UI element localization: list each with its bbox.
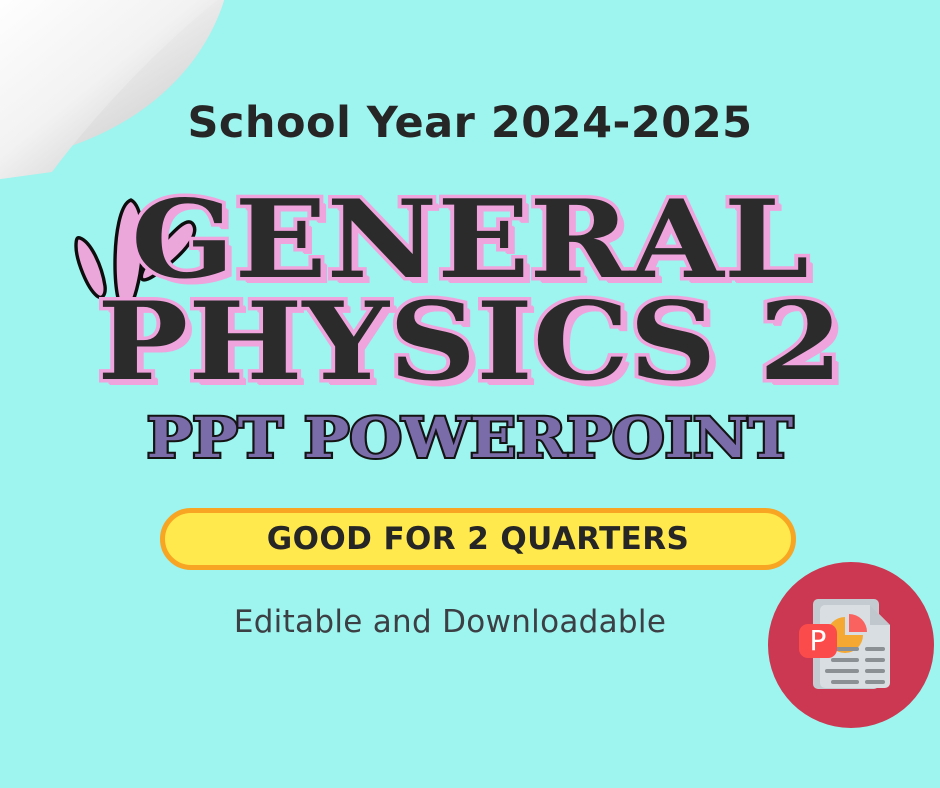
- quarters-badge: GOOD FOR 2 QUARTERS: [160, 508, 796, 570]
- main-title-line-1: GENERAL: [0, 186, 940, 294]
- main-title-line-2: PHYSICS 2: [0, 288, 940, 396]
- powerpoint-badge-letter: P: [810, 624, 827, 657]
- powerpoint-file-icon: P: [768, 562, 934, 728]
- quarters-badge-label: GOOD FOR 2 QUARTERS: [267, 521, 689, 557]
- editable-downloadable-text: Editable and Downloadable: [0, 604, 900, 640]
- poster-canvas: School Year 2024-2025 GENERAL PHYSICS 2 …: [0, 0, 940, 788]
- school-year-text: School Year 2024-2025: [0, 98, 940, 148]
- page-curl-icon: [0, 0, 224, 184]
- ppt-subtitle-text: PPT POWERPOINT: [0, 410, 940, 465]
